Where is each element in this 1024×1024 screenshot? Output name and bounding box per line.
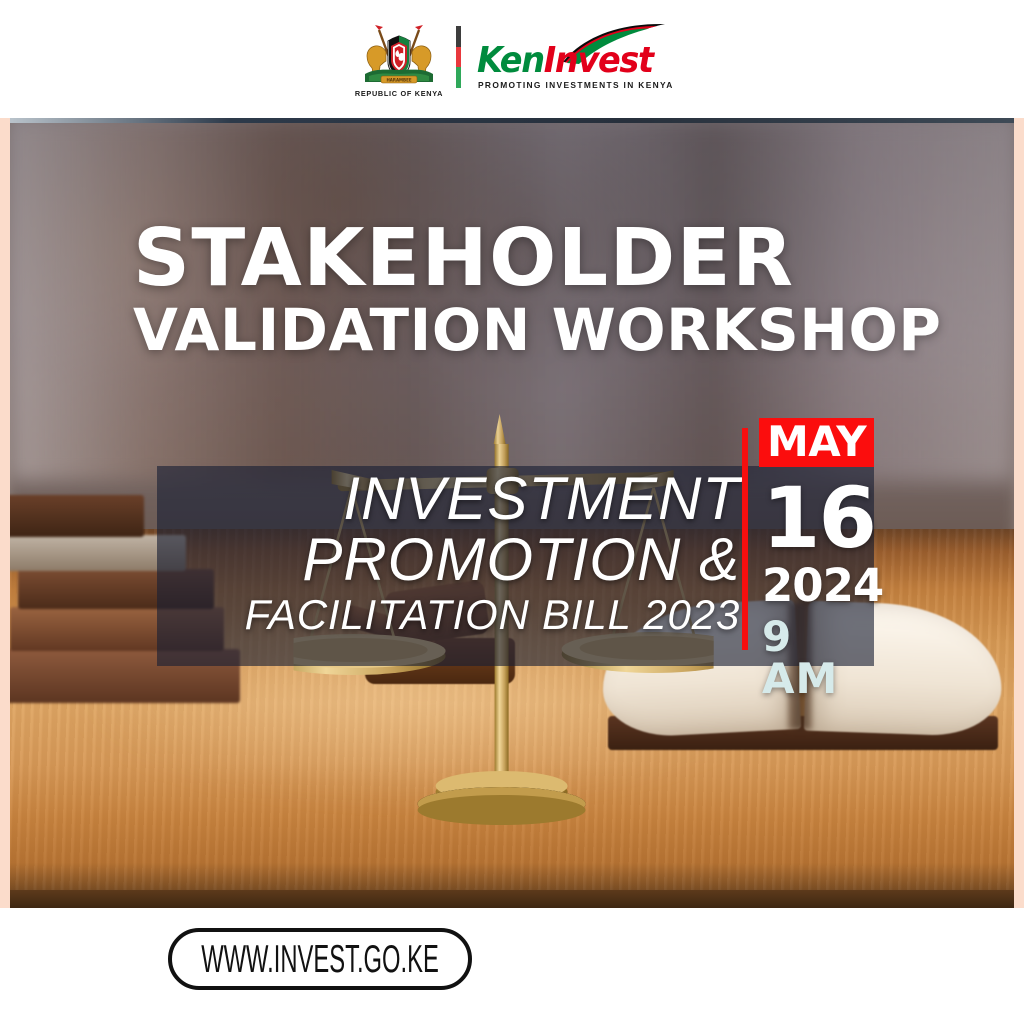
divider-segment-red <box>456 47 461 68</box>
footer-bar: WWW.INVEST.GO.KE <box>0 908 1024 1024</box>
brand-tagline: PROMOTING INVESTMENTS IN KENYA <box>478 80 674 90</box>
date-day: 16 <box>762 476 875 560</box>
headline-line-1: STAKEHOLDER <box>133 222 893 295</box>
poster-subject: INVESTMENT PROMOTION & FACILITATION BILL… <box>160 468 740 638</box>
photo-top-band <box>10 118 1014 123</box>
date-month: MAY <box>759 418 874 467</box>
brand-text-invest: Invest <box>544 40 653 81</box>
poster-canvas: HARAMBEE REPUBLIC OF KENYA KenInvest <box>0 0 1024 1024</box>
event-date-block: MAY 16 2024 9 AM <box>742 418 877 668</box>
keninvest-wordmark: KenInvest <box>477 43 653 79</box>
book <box>10 495 144 537</box>
coat-of-arms: HARAMBEE REPUBLIC OF KENYA <box>351 20 447 98</box>
photo-desk-edge <box>10 890 1014 908</box>
coat-of-arms-caption: REPUBLIC OF KENYA <box>355 89 443 98</box>
header-logo-bar: HARAMBEE REPUBLIC OF KENYA KenInvest <box>0 0 1024 118</box>
brand-text-ken: Ken <box>477 40 544 81</box>
keninvest-logo: KenInvest PROMOTING INVESTMENTS IN KENYA <box>477 23 673 95</box>
event-time: 9 AM <box>762 616 877 700</box>
tricolour-divider <box>456 26 461 88</box>
divider-segment-green <box>456 67 461 88</box>
coat-of-arms-icon: HARAMBEE <box>357 24 441 88</box>
subject-line-1: INVESTMENT <box>160 468 740 529</box>
subject-line-3: FACILITATION BILL 2023 <box>160 592 740 637</box>
subject-line-2: PROMOTION & <box>160 529 740 590</box>
date-red-rule <box>742 428 748 650</box>
poster-headline: STAKEHOLDER VALIDATION WORKSHOP <box>133 222 893 362</box>
svg-text:HARAMBEE: HARAMBEE <box>386 77 411 82</box>
headline-line-2: VALIDATION WORKSHOP <box>133 299 893 362</box>
logo-group: HARAMBEE REPUBLIC OF KENYA KenInvest <box>351 21 673 97</box>
divider-segment-black <box>456 26 461 47</box>
website-url: WWW.INVEST.GO.KE <box>201 937 439 982</box>
website-pill[interactable]: WWW.INVEST.GO.KE <box>168 928 472 990</box>
date-year: 2024 <box>762 563 883 608</box>
